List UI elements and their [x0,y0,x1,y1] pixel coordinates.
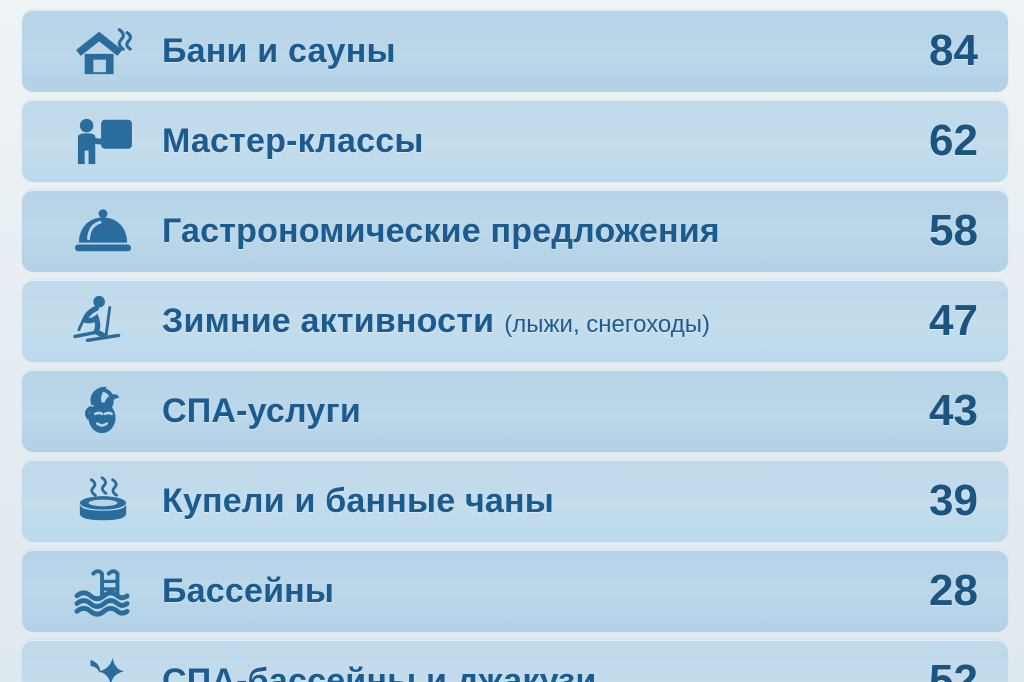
category-value: 28 [929,566,978,615]
category-value-cell: 43 [840,386,990,436]
category-value: 47 [929,296,978,345]
category-value-cell: 52 [840,656,990,682]
spa-face-mask-icon [44,374,162,448]
category-label-group: Купели и банные чаны [162,482,840,521]
category-row[interactable]: Бани и сауны84 [22,10,1008,92]
category-value-cell: 58 [840,206,990,256]
category-label: Купели и банные чаны [162,482,554,521]
category-label: Зимние активности [162,302,494,341]
category-row[interactable]: Гастрономические предложения58 [22,190,1008,272]
category-value-cell: 47 [840,296,990,346]
category-value: 52 [929,656,978,682]
cloche-food-dome-icon [44,194,162,268]
category-label: Бассейны [162,572,334,611]
music-note-sparkle-icon [44,644,162,682]
category-label: Бани и сауны [162,32,396,71]
person-whiteboard-icon [44,104,162,178]
category-label-group: Гастрономические предложения [162,212,840,251]
category-label: СПА-бассейны и джакузи [162,662,596,682]
category-value: 62 [929,116,978,165]
hot-tub-steam-icon [44,464,162,538]
category-sublabel: (лыжи, снегоходы) [504,311,710,339]
category-value: 58 [929,206,978,255]
category-value-list: Бани и сауны84 Мастер-классы62 Гастроном… [0,0,1024,682]
category-value-cell: 84 [840,26,990,76]
house-steam-icon [44,14,162,88]
category-row[interactable]: СПА-бассейны и джакузи52 [22,640,1008,682]
category-label: СПА-услуги [162,392,361,431]
category-label-group: Мастер-классы [162,122,840,161]
category-row[interactable]: Зимние активности(лыжи, снегоходы)47 [22,280,1008,362]
category-row[interactable]: СПА-услуги43 [22,370,1008,452]
swimming-pool-ladder-icon [44,554,162,628]
category-value: 39 [929,476,978,525]
category-value: 84 [929,26,978,75]
category-label: Гастрономические предложения [162,212,720,251]
category-label-group: Зимние активности(лыжи, снегоходы) [162,302,840,341]
skier-icon [44,284,162,358]
category-value-cell: 39 [840,476,990,526]
category-value-cell: 28 [840,566,990,616]
category-label-group: Бани и сауны [162,32,840,71]
category-row[interactable]: Купели и банные чаны39 [22,460,1008,542]
category-value: 43 [929,386,978,435]
category-label-group: Бассейны [162,572,840,611]
category-row[interactable]: Мастер-классы62 [22,100,1008,182]
category-label-group: СПА-услуги [162,392,840,431]
category-label-group: СПА-бассейны и джакузи [162,662,840,682]
category-value-cell: 62 [840,116,990,166]
category-label: Мастер-классы [162,122,424,161]
category-row[interactable]: Бассейны28 [22,550,1008,632]
